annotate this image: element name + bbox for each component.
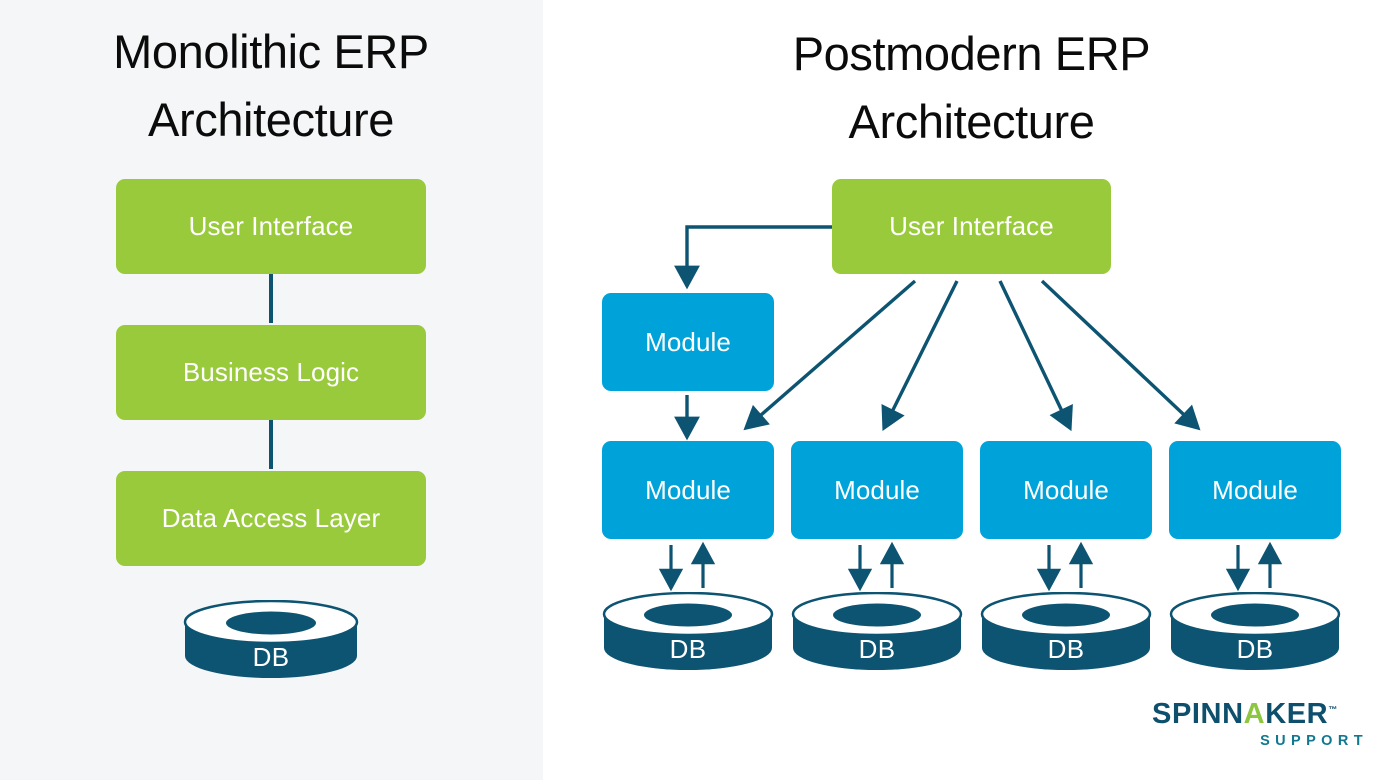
- node-label: User Interface: [889, 211, 1054, 242]
- node-module-1[interactable]: Module: [602, 441, 774, 539]
- node-label: Module: [1212, 475, 1298, 506]
- layer-box-business-logic[interactable]: Business Logic: [116, 325, 426, 420]
- layer-box-user-interface[interactable]: User Interface: [116, 179, 426, 274]
- connector-ui-to-business: [269, 274, 273, 323]
- database-label: DB: [602, 634, 774, 665]
- database-label: DB: [791, 634, 963, 665]
- diagram-canvas: Monolithic ERP Architecture Postmodern E…: [0, 0, 1400, 780]
- database-label: DB: [980, 634, 1152, 665]
- node-module-2[interactable]: Module: [791, 441, 963, 539]
- node-label: Module: [1023, 475, 1109, 506]
- node-module-3[interactable]: Module: [980, 441, 1152, 539]
- database-cylinder-4[interactable]: DB: [1169, 592, 1341, 674]
- connector-business-to-data: [269, 420, 273, 469]
- monolithic-panel-title: Monolithic ERP Architecture: [21, 18, 521, 153]
- node-user-interface-root[interactable]: User Interface: [832, 179, 1111, 274]
- database-cylinder-3[interactable]: DB: [980, 592, 1152, 674]
- database-cylinder-monolithic[interactable]: DB: [183, 600, 359, 682]
- logo-word-part-2: KER: [1265, 698, 1328, 730]
- logo-trademark-icon: ™: [1328, 704, 1338, 714]
- logo-wordmark: SPINNAKER™: [1152, 700, 1372, 729]
- database-label: DB: [183, 642, 359, 673]
- database-cylinder-2[interactable]: DB: [791, 592, 963, 674]
- layer-label: Business Logic: [183, 357, 359, 388]
- logo-tagline: SUPPORT: [1152, 734, 1372, 749]
- logo-word-accent: A: [1244, 698, 1266, 730]
- node-label: Module: [834, 475, 920, 506]
- layer-box-data-access-layer[interactable]: Data Access Layer: [116, 471, 426, 566]
- postmodern-panel-title: Postmodern ERP Architecture: [593, 20, 1350, 155]
- database-cylinder-1[interactable]: DB: [602, 592, 774, 674]
- node-module-4[interactable]: Module: [1169, 441, 1341, 539]
- layer-label: Data Access Layer: [162, 503, 380, 534]
- node-module-top[interactable]: Module: [602, 293, 774, 391]
- database-label: DB: [1169, 634, 1341, 665]
- logo-word-part-1: SPINN: [1152, 698, 1244, 730]
- node-label: Module: [645, 475, 731, 506]
- spinnaker-support-logo[interactable]: SPINNAKER™ SUPPORT: [1152, 700, 1372, 758]
- node-label: Module: [645, 327, 731, 358]
- layer-label: User Interface: [189, 211, 354, 242]
